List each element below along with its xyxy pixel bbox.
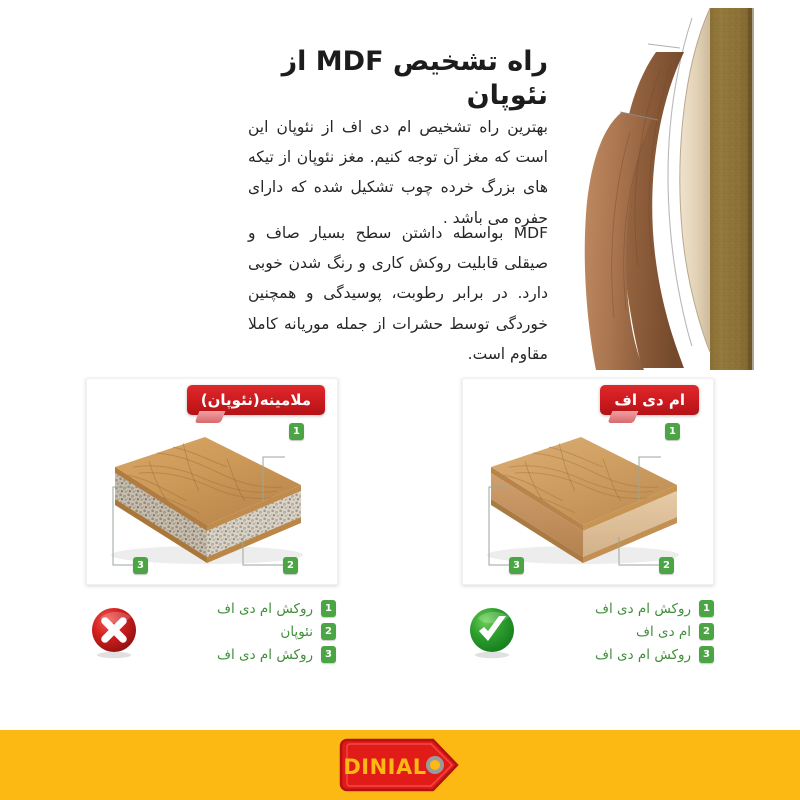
legend-label: روکش ام دی اف	[595, 647, 691, 663]
wood-veneer-layers-image	[560, 0, 800, 370]
dinial-logo-text: DINIAL	[343, 755, 426, 779]
legend-number-badge: 3	[321, 646, 336, 663]
legend-number-badge: 1	[321, 600, 336, 617]
legend-label: روکش ام دی اف	[595, 601, 691, 617]
panel-mdf: ام دی اف	[462, 378, 714, 585]
callout-badge-1: 1	[289, 423, 304, 440]
legend-item: 2 ام دی اف	[530, 623, 714, 640]
legend-item: 3 روکش ام دی اف	[530, 646, 714, 663]
legend-label: ام دی اف	[636, 624, 691, 640]
legend-mdf: 1 روکش ام دی اف 2 ام دی اف 3 روکش ام دی …	[464, 600, 714, 663]
callout-badge-1: 1	[665, 423, 680, 440]
page-title: راه تشخیص MDF از نئوپان	[248, 45, 548, 113]
legend-melamine-neopan: 1 روکش ام دی اف 2 نئوپان 3 روکش ام دی اف	[86, 600, 336, 663]
footer-bar: DINIAL	[0, 730, 800, 800]
infographic-page: راه تشخیص MDF از نئوپان بهترین راه تشخیص…	[0, 0, 800, 800]
callout-badge-3: 3	[509, 557, 524, 574]
body-paragraph-2: MDF بواسطه داشتن سطح بسیار صاف و صیقلی ق…	[248, 218, 548, 369]
legend-item: 2 نئوپان	[152, 623, 336, 640]
comparison-section: ملامینه(نئوپان)	[0, 378, 800, 698]
legend-label: نئوپان	[280, 624, 313, 640]
legend-number-badge: 2	[699, 623, 714, 640]
green-check-icon	[464, 604, 520, 660]
dinial-logo[interactable]: DINIAL	[337, 735, 463, 795]
legend-number-badge: 3	[699, 646, 714, 663]
callout-badge-2: 2	[283, 557, 298, 574]
legend-number-badge: 1	[699, 600, 714, 617]
body-paragraph-1: بهترین راه تشخیص ام دی اف از نئوپان این …	[248, 112, 548, 233]
legend-item: 3 روکش ام دی اف	[152, 646, 336, 663]
red-cross-icon	[86, 604, 142, 660]
legend-label: روکش ام دی اف	[217, 601, 313, 617]
legend-label: روکش ام دی اف	[217, 647, 313, 663]
panel-melamine-neopan: ملامینه(نئوپان)	[86, 378, 338, 585]
banner-mdf: ام دی اف	[600, 385, 699, 415]
legend-number-badge: 2	[321, 623, 336, 640]
legend-item: 1 روکش ام دی اف	[530, 600, 714, 617]
callout-badge-2: 2	[659, 557, 674, 574]
banner-melamine-neopan: ملامینه(نئوپان)	[187, 385, 325, 415]
callout-badge-3: 3	[133, 557, 148, 574]
legend-item: 1 روکش ام دی اف	[152, 600, 336, 617]
